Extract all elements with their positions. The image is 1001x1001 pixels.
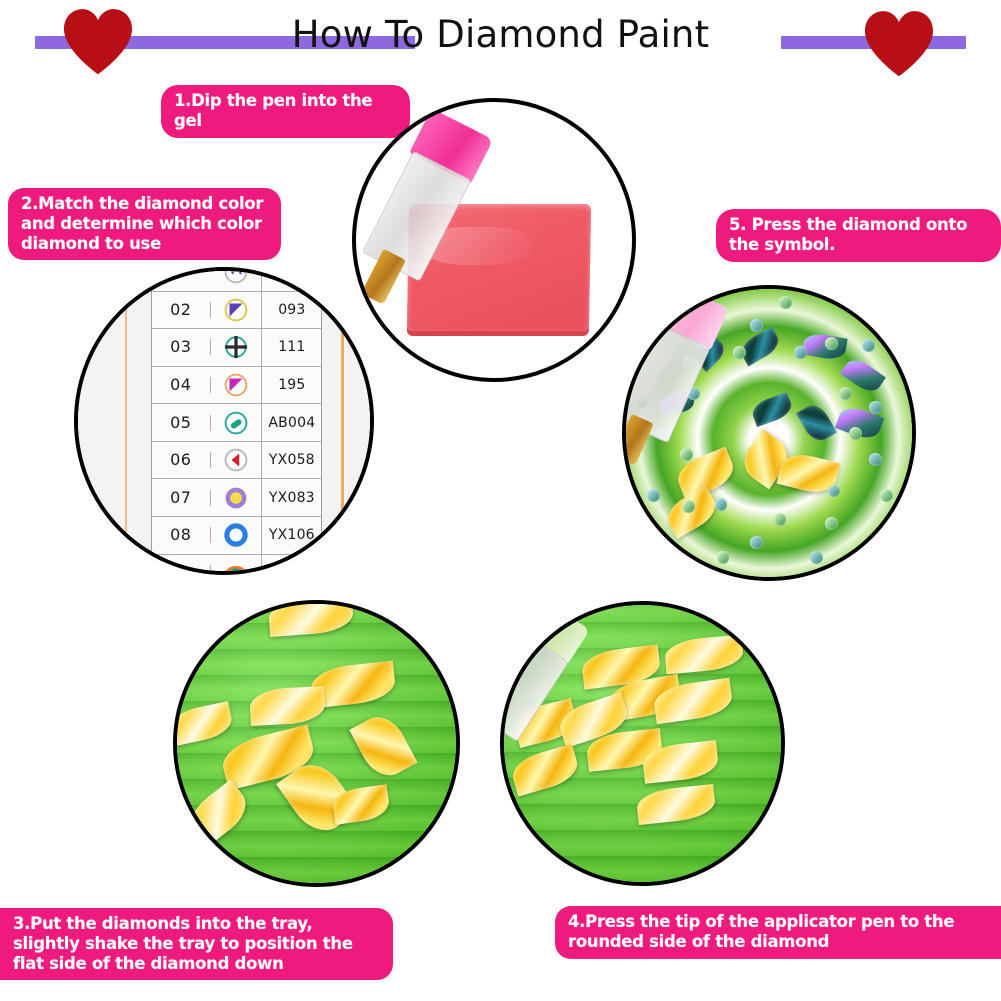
chart-row-number: 02 [152, 302, 211, 318]
canvas-symbol-dot [825, 337, 838, 350]
canvas-symbol-dot [862, 339, 875, 352]
table-row: 03111 [152, 329, 321, 367]
canvas-symbol-dot [810, 551, 823, 564]
chart-row-code: 028 [262, 267, 321, 279]
chart-row-number: 05 [152, 415, 211, 431]
diamond-onto-canvas-photo [622, 285, 916, 581]
chart-row-code: 195 [262, 378, 321, 392]
canvas-symbol-dot [750, 536, 763, 549]
step-3-label: 3.Put the diamonds into the tray, slight… [0, 908, 393, 980]
chart-row-code: 093 [262, 303, 321, 317]
triangle-flag-icon [211, 292, 263, 329]
pen-dipping-in-gel-photo [352, 98, 636, 382]
plus-cross-icon [211, 329, 263, 366]
table-row: 06YX058 [152, 442, 321, 480]
canvas-symbol-dot [779, 296, 792, 309]
canvas-symbol-dot [869, 401, 882, 414]
color-code-chart-photo: 02802093031110419505AB00406YX05807YX0830… [74, 267, 374, 575]
canvas-symbol-dot [647, 489, 660, 502]
canvas-symbol-dot [794, 346, 807, 359]
diamonds-in-tray-photo [173, 600, 460, 887]
page-title: How To Diamond Paint [0, 13, 1001, 56]
chart-row-number: 06 [152, 452, 211, 468]
chart-row-number: 03 [152, 339, 211, 355]
color-code-table: 02802093031110419505AB00406YX05807YX0830… [151, 267, 322, 575]
table-row: 02093 [152, 292, 321, 330]
filled-circle-icon [211, 479, 263, 516]
left-chevron-icon [211, 442, 263, 479]
infographic-canvas: How To Diamond Paint 1.Dip the pen into … [0, 0, 1001, 1001]
table-row: 04195 [152, 367, 321, 405]
ring-icon [211, 517, 263, 554]
chart-row-number: 08 [152, 527, 211, 543]
table-row: 09YX125 [152, 555, 321, 576]
leaf-icon [211, 555, 263, 576]
chart-row-number: 07 [152, 490, 211, 506]
triangle-flag-icon [211, 367, 263, 404]
table-row: 08YX106 [152, 517, 321, 555]
capsule-icon [211, 404, 263, 441]
table-row: 05AB004 [152, 404, 321, 442]
canvas-symbol-dot [869, 453, 882, 466]
chart-row-code: YX106 [262, 528, 321, 542]
chart-row-number: 04 [152, 377, 211, 393]
table-row: 07YX083 [152, 479, 321, 517]
chart-row-number: 09 [152, 565, 211, 575]
canvas-symbol-dot [682, 500, 695, 513]
canvas-symbol-dot [880, 489, 893, 502]
table-row: 028 [152, 267, 321, 292]
pen-picking-diamond-photo [500, 601, 785, 886]
canvas-symbol-dot [680, 448, 693, 461]
chart-row-code: YX083 [262, 491, 321, 505]
step-4-label: 4.Press the tip of the applicator pen to… [555, 906, 1001, 959]
chart-row-code: 111 [262, 340, 321, 354]
chart-row-code: AB004 [262, 416, 321, 430]
green-tray [177, 604, 456, 883]
double-drop-icon [211, 267, 263, 291]
chart-row-code: YX058 [262, 453, 321, 467]
step-2-label: 2.Match the diamond color and determine … [8, 188, 281, 260]
chart-row-code: YX125 [262, 566, 321, 575]
canvas-symbol-dot [750, 319, 763, 332]
step-5-label: 5. Press the diamond onto the symbol. [716, 209, 1001, 262]
